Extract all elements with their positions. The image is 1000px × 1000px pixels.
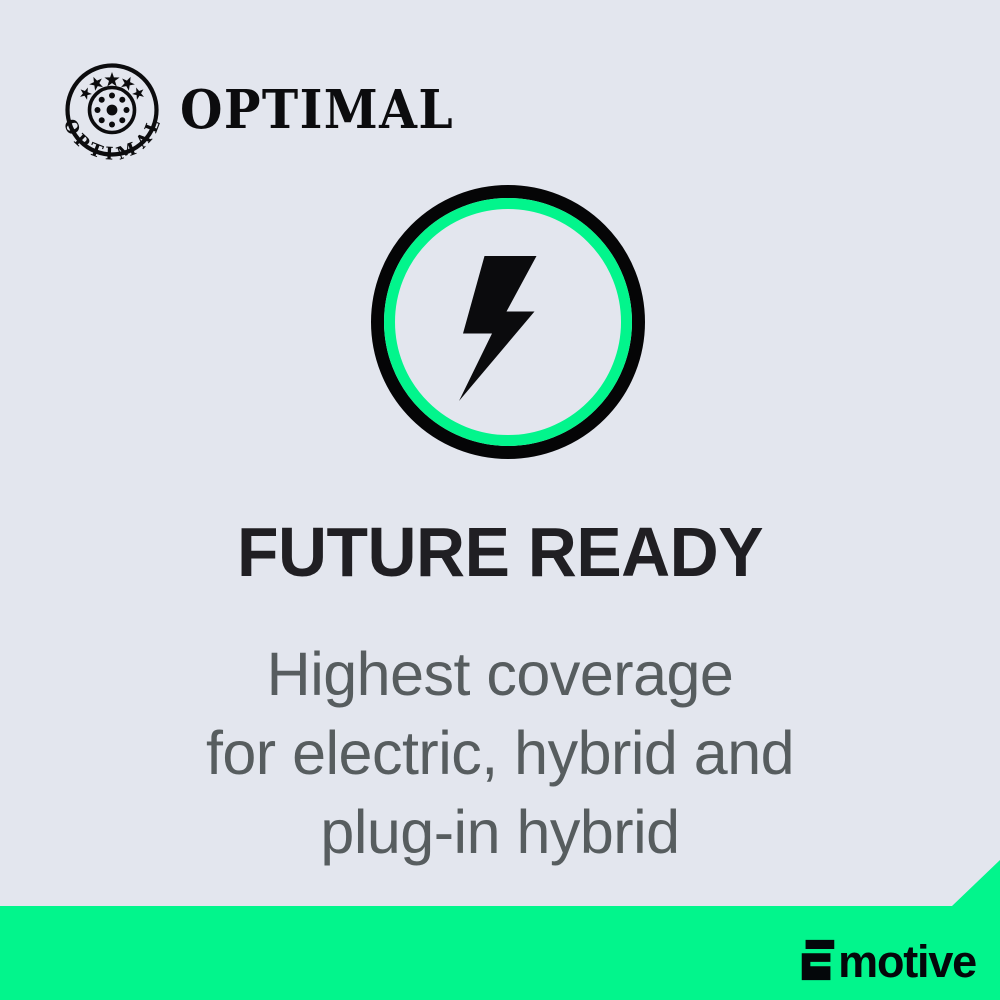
emotive-logo: motive bbox=[801, 938, 976, 982]
body-copy-line-2: for electric, hybrid and bbox=[0, 714, 1000, 793]
lightning-bolt-in-circle-icon bbox=[371, 185, 645, 459]
optimal-brand-lockup: OPTIMAL OPTIMAL bbox=[62, 60, 478, 160]
body-copy-line-1: Highest coverage bbox=[0, 635, 1000, 714]
page-title: FUTURE READY bbox=[15, 516, 985, 589]
optimal-wordmark: OPTIMAL bbox=[180, 84, 454, 137]
footer-band: motive bbox=[0, 855, 1000, 1000]
promo-poster: OPTIMAL OPTIMAL bbox=[0, 0, 1000, 1000]
copy-block: FUTURE READY Highest coverage for electr… bbox=[0, 516, 1000, 873]
optimal-bearing-emblem-icon: OPTIMAL bbox=[62, 60, 162, 160]
emotive-e-mark-icon bbox=[801, 938, 835, 982]
lightning-bolt-badge bbox=[371, 185, 645, 459]
body-copy: Highest coverage for electric, hybrid an… bbox=[0, 635, 1000, 873]
body-copy-line-3: plug-in hybrid bbox=[0, 793, 1000, 872]
emotive-wordmark: motive bbox=[838, 941, 976, 982]
